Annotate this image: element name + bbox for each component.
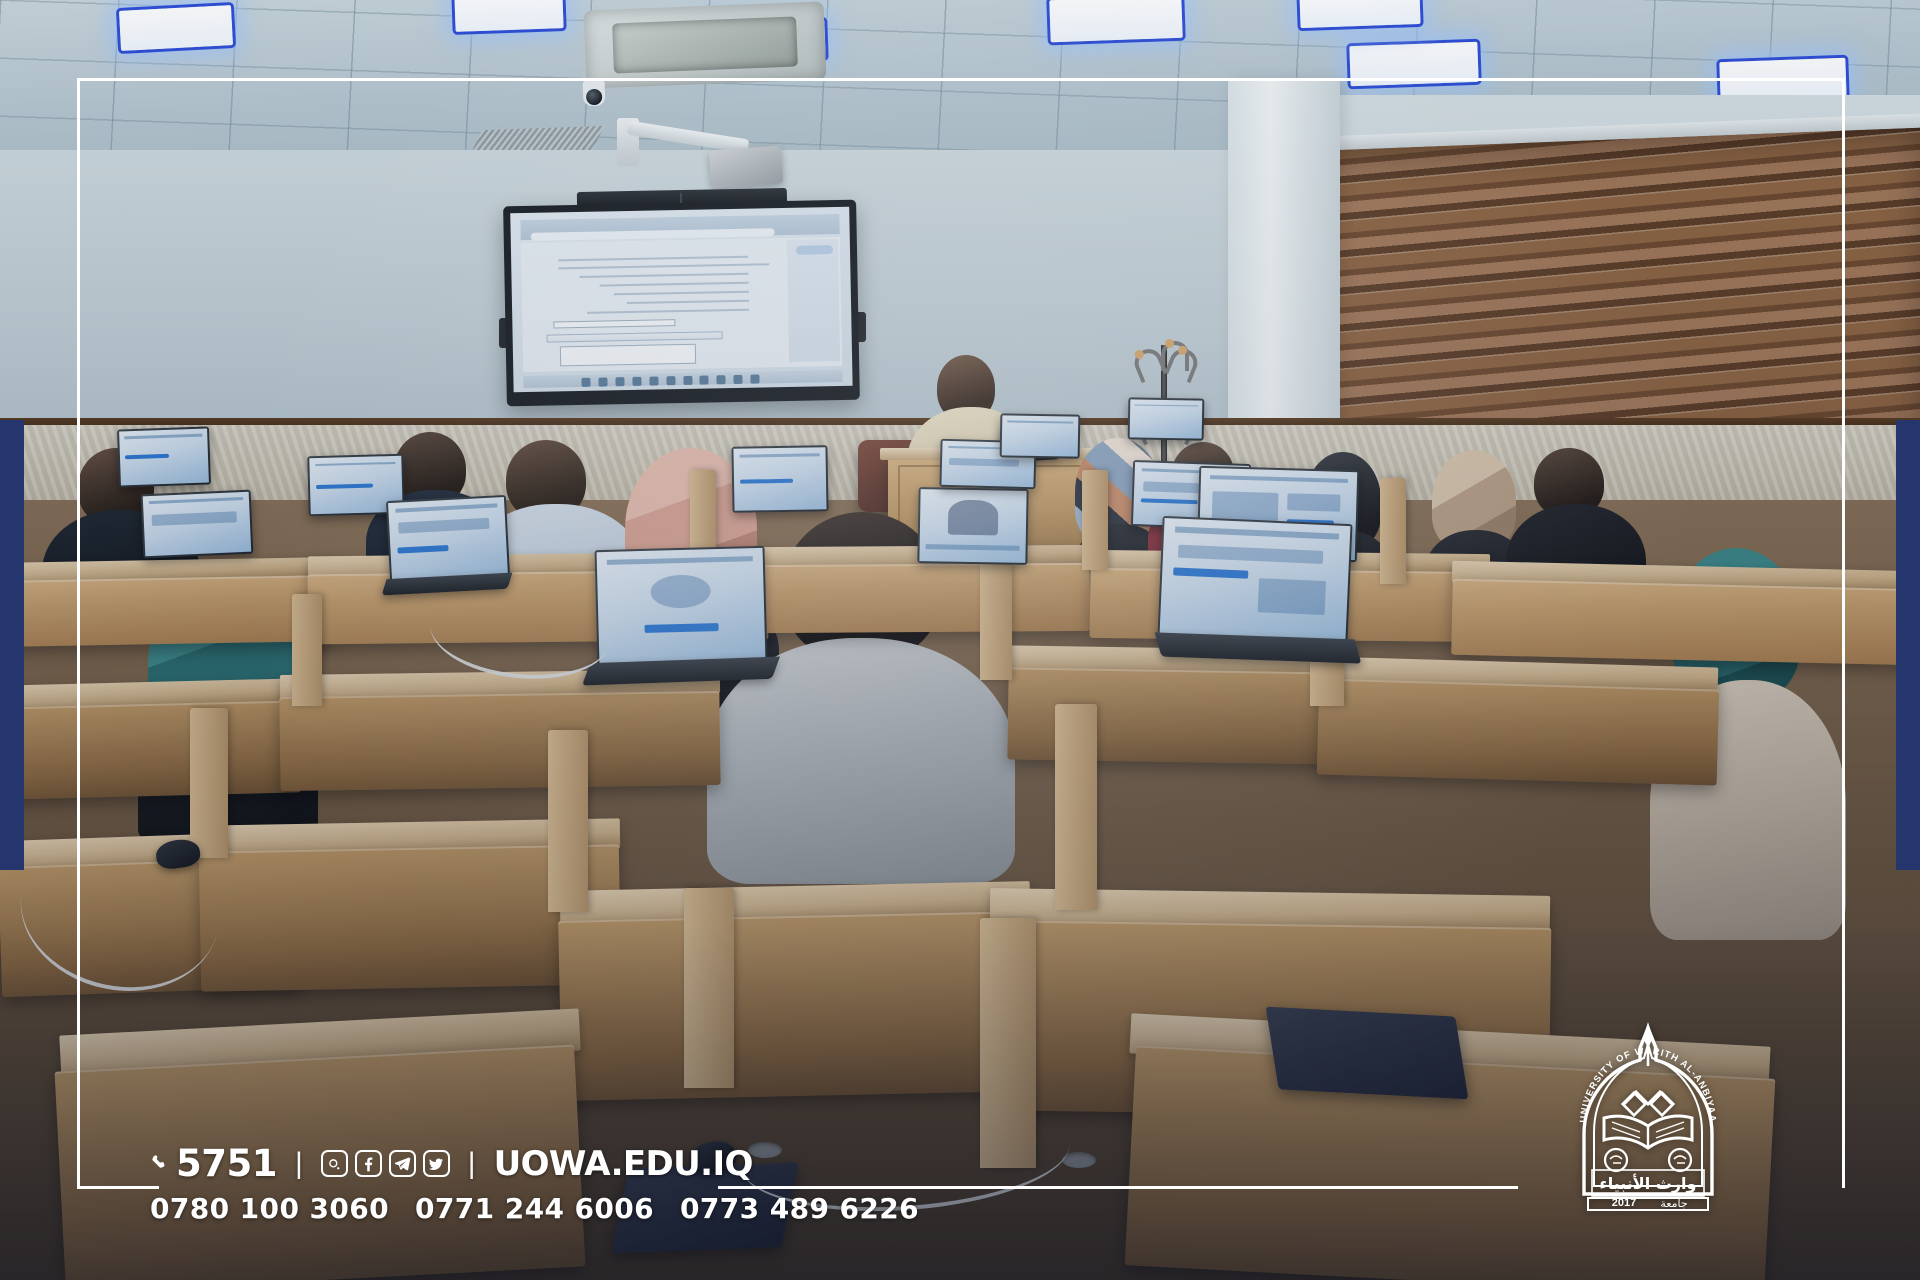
screen-toolbar (395, 504, 497, 513)
footer-contact-bar: 5751 | (150, 1145, 919, 1225)
compose-button (796, 245, 833, 256)
accent-band-right (1896, 420, 1920, 870)
attendee-laptop (1157, 516, 1352, 644)
screen-toolbar (926, 544, 1019, 551)
laptop-screen (919, 489, 1026, 563)
screen-toolbar (1007, 420, 1074, 423)
social-links (321, 1150, 450, 1177)
laptop-lid (595, 546, 768, 666)
screen-panel (1287, 493, 1341, 512)
screen-toolbar (125, 434, 202, 439)
seat-divider (684, 888, 734, 1088)
desk-front-panel (0, 700, 301, 799)
attendee-laptop (141, 490, 254, 559)
desk-front-panel (760, 563, 1090, 633)
phone-icon (150, 1151, 169, 1176)
desk-front-panel (1451, 579, 1920, 666)
desk-front-panel (1317, 678, 1720, 785)
phone-number: 0771 244 6006 (415, 1192, 654, 1225)
phone-number: 0780 100 3060 (150, 1192, 389, 1225)
laptop-screen (143, 492, 252, 557)
seat-divider (548, 730, 588, 912)
screen-toolbar (1210, 475, 1347, 483)
screen-panel (1257, 578, 1325, 616)
laptop-screen (1160, 518, 1351, 642)
seat-divider (190, 708, 228, 858)
laptop-screen (733, 447, 826, 511)
signature-body (560, 344, 696, 366)
smart-whiteboard (503, 200, 860, 407)
laptop-lid (386, 495, 510, 583)
instagram-icon[interactable] (321, 1150, 348, 1177)
attendee-laptop (595, 546, 768, 666)
laptop-screen (388, 497, 508, 581)
screen-highlight (316, 483, 373, 488)
laptop-screen (119, 428, 209, 485)
laptop-screen (1002, 415, 1079, 456)
hotline-group: 5751 (150, 1145, 277, 1182)
screen-panel (398, 518, 489, 534)
logo-arabic-name: وارث الأنبياء (1600, 1174, 1697, 1193)
screen-panel (152, 511, 237, 525)
taskbar-icon (666, 376, 675, 385)
desk-front-panel (279, 691, 720, 791)
attendee-laptop (386, 495, 510, 583)
taskbar-icon (734, 375, 743, 384)
screen-toolbar (149, 497, 242, 504)
desk-front-panel (0, 575, 331, 647)
ceiling-light (1349, 42, 1478, 86)
seat-divider (1055, 704, 1097, 910)
projector (709, 146, 783, 189)
university-logo: UNIVERSITY OF WARITH AL-ANBIYAA وارث الأ… (1562, 1022, 1734, 1212)
taskbar-icon (598, 377, 607, 386)
laptop-lid (141, 490, 254, 559)
facebook-icon[interactable] (355, 1150, 382, 1177)
taskbar-icon (751, 374, 760, 383)
accent-band-left (0, 420, 24, 870)
telegram-icon[interactable] (389, 1150, 416, 1177)
taskbar-icon (700, 375, 709, 384)
screen-highlight (125, 454, 169, 459)
screen-highlight (1173, 567, 1248, 578)
seat-divider (980, 560, 1012, 680)
desk-front-panel (558, 911, 1032, 1101)
seat-divider (292, 594, 322, 706)
gmail-sidebar (787, 239, 840, 362)
ceiling-light (119, 5, 233, 51)
ceiling-ac-unit (584, 1, 827, 88)
laptop-lid (1128, 397, 1205, 440)
closed-laptop (1266, 1007, 1469, 1100)
website-url[interactable]: UOWA.EDU.IQ (494, 1147, 753, 1181)
laptop-lid (731, 445, 828, 513)
wall-column (1228, 80, 1340, 460)
university-logo-wallpaper (947, 500, 998, 535)
laptop-screen (1130, 399, 1203, 438)
screen-toolbar (607, 556, 753, 565)
phone-number: 0773 489 6226 (680, 1192, 919, 1225)
screen-toolbar (1135, 404, 1198, 407)
attendee-laptop (117, 426, 211, 487)
screen-toolbar (1175, 527, 1339, 540)
ceiling-light (454, 0, 563, 32)
laptop-lid (1000, 413, 1081, 458)
smart-whiteboard-screen (510, 207, 852, 392)
footer-primary-row: 5751 | (150, 1145, 919, 1182)
taskbar-icon (717, 375, 726, 384)
laptop-lid (1157, 516, 1352, 644)
twitter-icon[interactable] (423, 1150, 450, 1177)
screen-panel (1178, 544, 1324, 564)
attendee-laptop (917, 487, 1028, 565)
screen-highlight (740, 479, 793, 484)
taskbar-icon (649, 376, 658, 385)
frame-bottom-left-segment (77, 1186, 159, 1189)
laptop-lid (917, 487, 1028, 565)
ceiling-light (1049, 0, 1182, 42)
taskbar-icon (581, 378, 590, 387)
taskbar-icon (632, 377, 641, 386)
laptop-screen (597, 548, 766, 664)
attendee-laptop (1128, 397, 1205, 440)
footer-phone-numbers: 0780 100 3060 0771 244 6006 0773 489 622… (150, 1192, 919, 1225)
ceiling-light (1299, 0, 1420, 28)
screen-toolbar (315, 462, 396, 467)
laptop-lid (117, 426, 211, 487)
security-camera-icon (583, 80, 606, 107)
screen-toolbar (739, 453, 820, 458)
screen-panel (949, 458, 1019, 467)
screen-highlight (397, 545, 448, 553)
taskbar-icon (683, 376, 692, 385)
screen-highlight (1141, 498, 1198, 504)
taskbar-icon (615, 377, 624, 386)
footer-separator: | (468, 1147, 476, 1181)
seat-divider (1082, 470, 1108, 570)
screen-panel (650, 574, 711, 609)
screen-highlight (645, 623, 718, 633)
hotline-number: 5751 (176, 1145, 277, 1182)
footer-separator: | (295, 1147, 303, 1181)
attendee-laptop (731, 445, 828, 513)
seat-divider (1380, 478, 1406, 584)
attendee-laptop (1000, 413, 1081, 458)
